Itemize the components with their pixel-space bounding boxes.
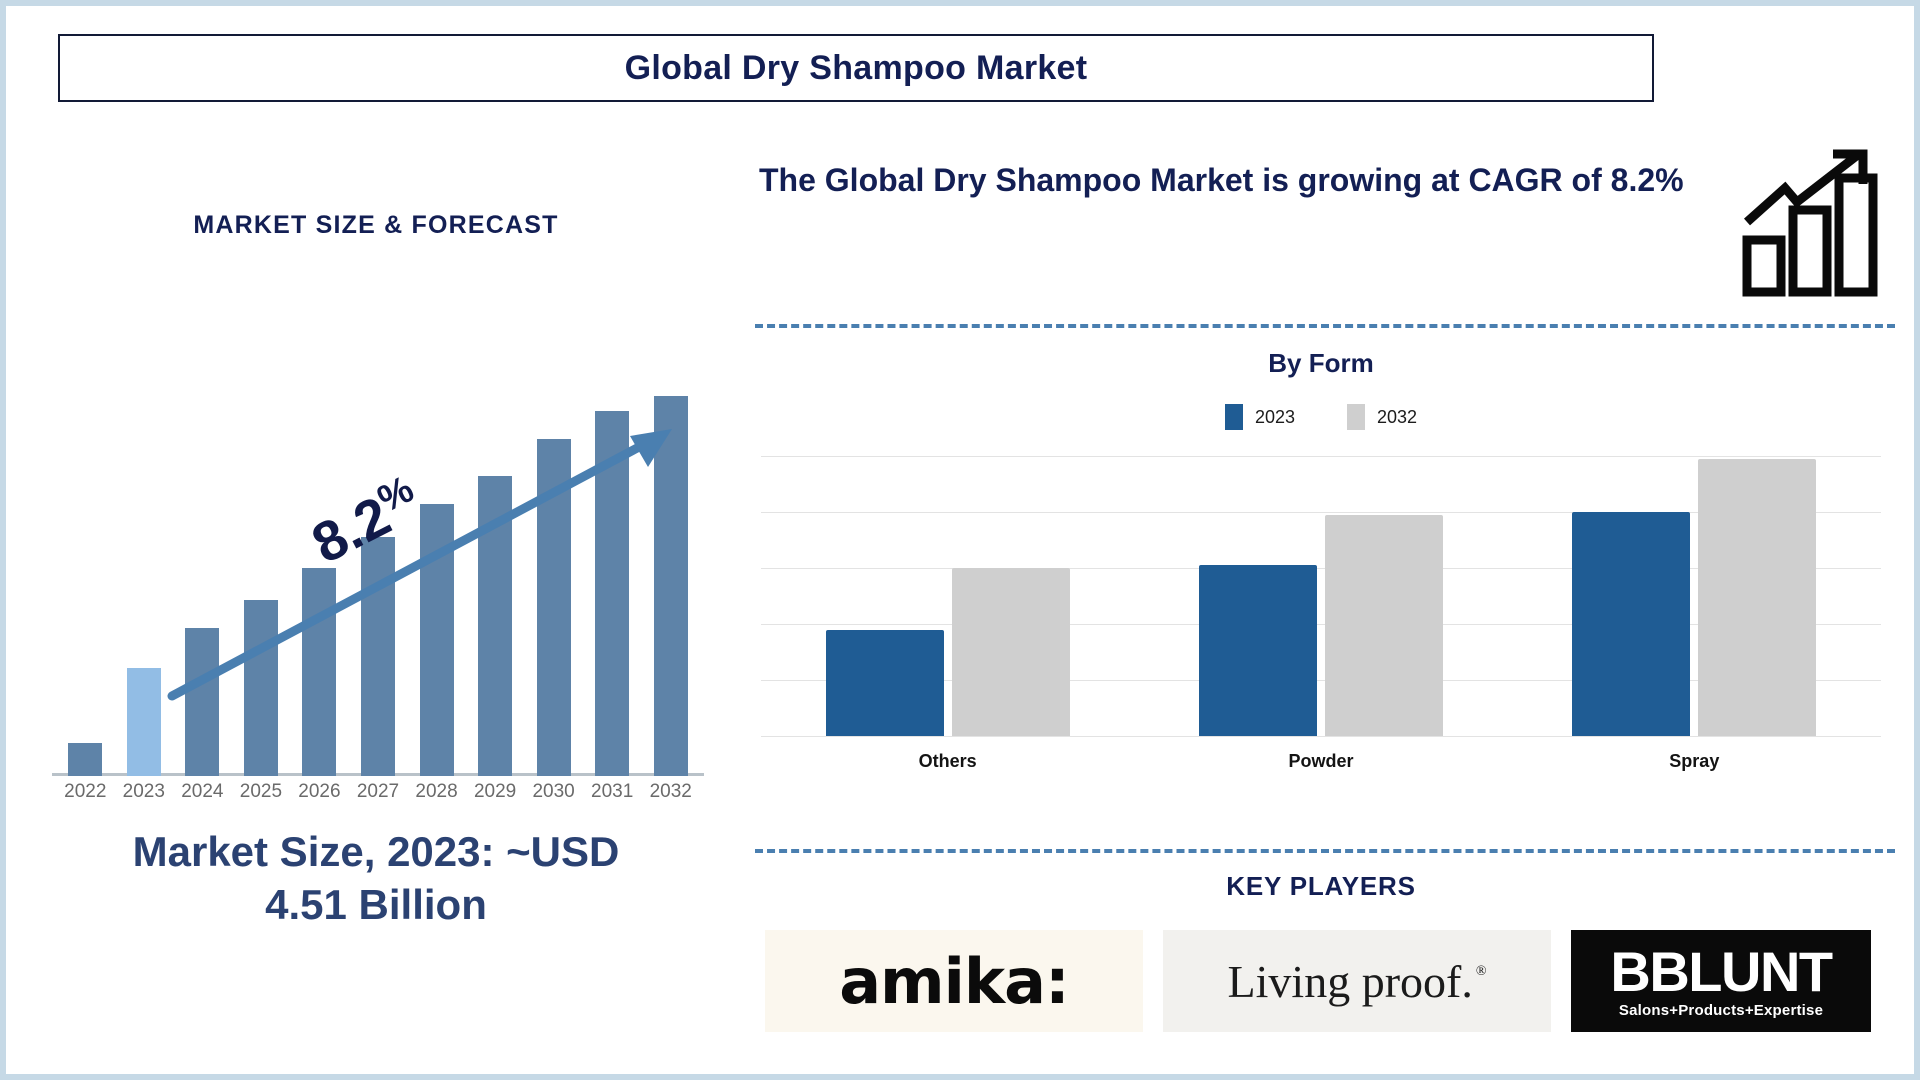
byform-bar-powder-2023 — [1199, 565, 1317, 736]
byform-bar-others-2023 — [826, 630, 944, 736]
legend-swatch-2023 — [1225, 404, 1243, 430]
byform-title: By Form — [751, 348, 1891, 379]
legend-entry-2023: 2023 — [1225, 404, 1295, 430]
gridline — [761, 736, 1881, 737]
forecast-year-label-2029: 2029 — [466, 781, 525, 803]
market-size-forecast-panel: MARKET SIZE & FORECAST 8.2% 202220232024… — [26, 126, 726, 1056]
logo-amika-text: amika: — [839, 945, 1069, 1018]
market-size-caption-line1: Market Size, 2023: ~USD — [26, 826, 726, 879]
market-size-caption: Market Size, 2023: ~USD 4.51 Billion — [26, 826, 726, 931]
forecast-bar-2032 — [654, 396, 688, 776]
byform-bar-spray-2032 — [1698, 459, 1816, 736]
legend-entry-2032: 2032 — [1347, 404, 1417, 430]
page-title: Global Dry Shampoo Market — [625, 49, 1088, 88]
forecast-year-label-2022: 2022 — [56, 781, 115, 803]
logo-bblunt: BBLUNT Salons+Products+Expertise — [1571, 930, 1871, 1032]
byform-category-label-powder: Powder — [1134, 751, 1507, 772]
byform-bar-chart — [761, 456, 1881, 736]
byform-bar-powder-2032 — [1325, 515, 1443, 736]
byform-category-label-others: Others — [761, 751, 1134, 772]
forecast-year-label-2031: 2031 — [583, 781, 642, 803]
logo-living-proof-mark: ® — [1476, 964, 1487, 979]
market-size-caption-line2: 4.51 Billion — [26, 879, 726, 932]
legend-swatch-2032 — [1347, 404, 1365, 430]
forecast-year-label-2023: 2023 — [115, 781, 174, 803]
logo-living-proof-word: Living proof. — [1228, 956, 1473, 1007]
forecast-year-label-2030: 2030 — [524, 781, 583, 803]
byform-bar-others-2032 — [952, 568, 1070, 736]
cagr-headline: The Global Dry Shampoo Market is growing… — [759, 158, 1689, 202]
byform-category-label-spray: Spray — [1508, 751, 1881, 772]
logo-bblunt-text: BBLUNT — [1610, 944, 1831, 1000]
logo-living-proof-text: Living proof.® — [1228, 955, 1487, 1008]
forecast-bar-2022 — [68, 743, 102, 776]
logo-bblunt-tagline: Salons+Products+Expertise — [1619, 1002, 1823, 1019]
forecast-bar-2025 — [244, 600, 278, 776]
byform-bar-spray-2023 — [1572, 512, 1690, 736]
logo-living-proof: Living proof.® — [1163, 930, 1551, 1032]
byform-category-labels: OthersPowderSpray — [761, 751, 1881, 777]
byform-legend: 20232032 — [751, 404, 1891, 430]
market-size-forecast-heading: MARKET SIZE & FORECAST — [26, 211, 726, 240]
keyplayers-logo-row: amika: Living proof.® BBLUNT Salons+Prod… — [765, 926, 1891, 1036]
forecast-bar-2031 — [595, 411, 629, 776]
forecast-bar-2028 — [420, 504, 454, 776]
forecast-bar-2026 — [302, 568, 336, 776]
forecast-year-labels: 2022202320242025202620272028202920302031… — [44, 781, 708, 811]
divider-bottom — [755, 849, 1895, 853]
legend-label-2023: 2023 — [1255, 407, 1295, 428]
forecast-bar-2024 — [185, 628, 219, 776]
forecast-year-label-2032: 2032 — [641, 781, 700, 803]
forecast-bar-2029 — [478, 476, 512, 776]
keyplayers-title: KEY PLAYERS — [751, 871, 1891, 902]
forecast-bar-2023 — [127, 668, 161, 776]
divider-top — [755, 324, 1895, 328]
gridline — [761, 456, 1881, 457]
forecast-year-label-2026: 2026 — [290, 781, 349, 803]
infographic-page: Global Dry Shampoo Market MARKET SIZE & … — [0, 0, 1920, 1080]
logo-amika: amika: — [765, 930, 1143, 1032]
right-panel: The Global Dry Shampoo Market is growing… — [751, 126, 1901, 1061]
forecast-bar-2027 — [361, 537, 395, 776]
forecast-year-label-2028: 2028 — [407, 781, 466, 803]
forecast-bar-2030 — [537, 439, 571, 776]
title-box: Global Dry Shampoo Market — [58, 34, 1654, 102]
forecast-year-label-2027: 2027 — [349, 781, 408, 803]
legend-label-2032: 2032 — [1377, 407, 1417, 428]
forecast-year-label-2024: 2024 — [173, 781, 232, 803]
forecast-year-label-2025: 2025 — [232, 781, 291, 803]
growth-arrow-bars-icon — [1741, 148, 1891, 298]
